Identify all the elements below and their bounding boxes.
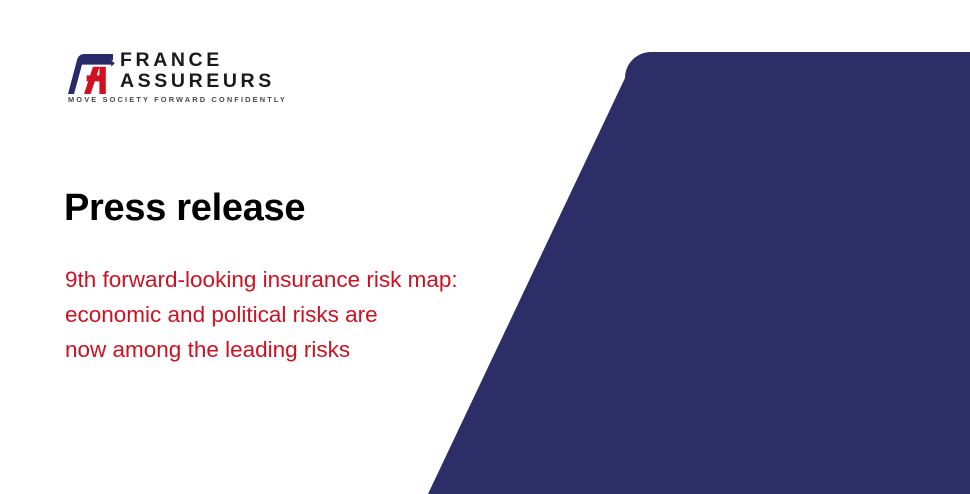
page-title: Press release bbox=[64, 186, 305, 230]
subtitle-line: 9th forward-looking insurance risk map: bbox=[65, 262, 545, 297]
subtitle-line: now among the leading risks bbox=[65, 332, 545, 367]
brand-logo: FRANCE ASSUREURS MOVE SOCIETY FORWARD CO… bbox=[68, 50, 313, 112]
logo-wordmark: FRANCE ASSUREURS bbox=[120, 50, 275, 92]
subtitle: 9th forward-looking insurance risk map: … bbox=[65, 262, 545, 367]
subtitle-line: economic and political risks are bbox=[65, 297, 545, 332]
logo-name-line-2: ASSUREURS bbox=[120, 71, 275, 92]
press-release-slide: FRANCE ASSUREURS MOVE SOCIETY FORWARD CO… bbox=[0, 0, 970, 494]
fa-monogram-icon bbox=[68, 52, 118, 96]
logo-name-line-1: FRANCE bbox=[120, 50, 275, 71]
logo-tagline: MOVE SOCIETY FORWARD CONFIDENTLY bbox=[68, 95, 287, 105]
